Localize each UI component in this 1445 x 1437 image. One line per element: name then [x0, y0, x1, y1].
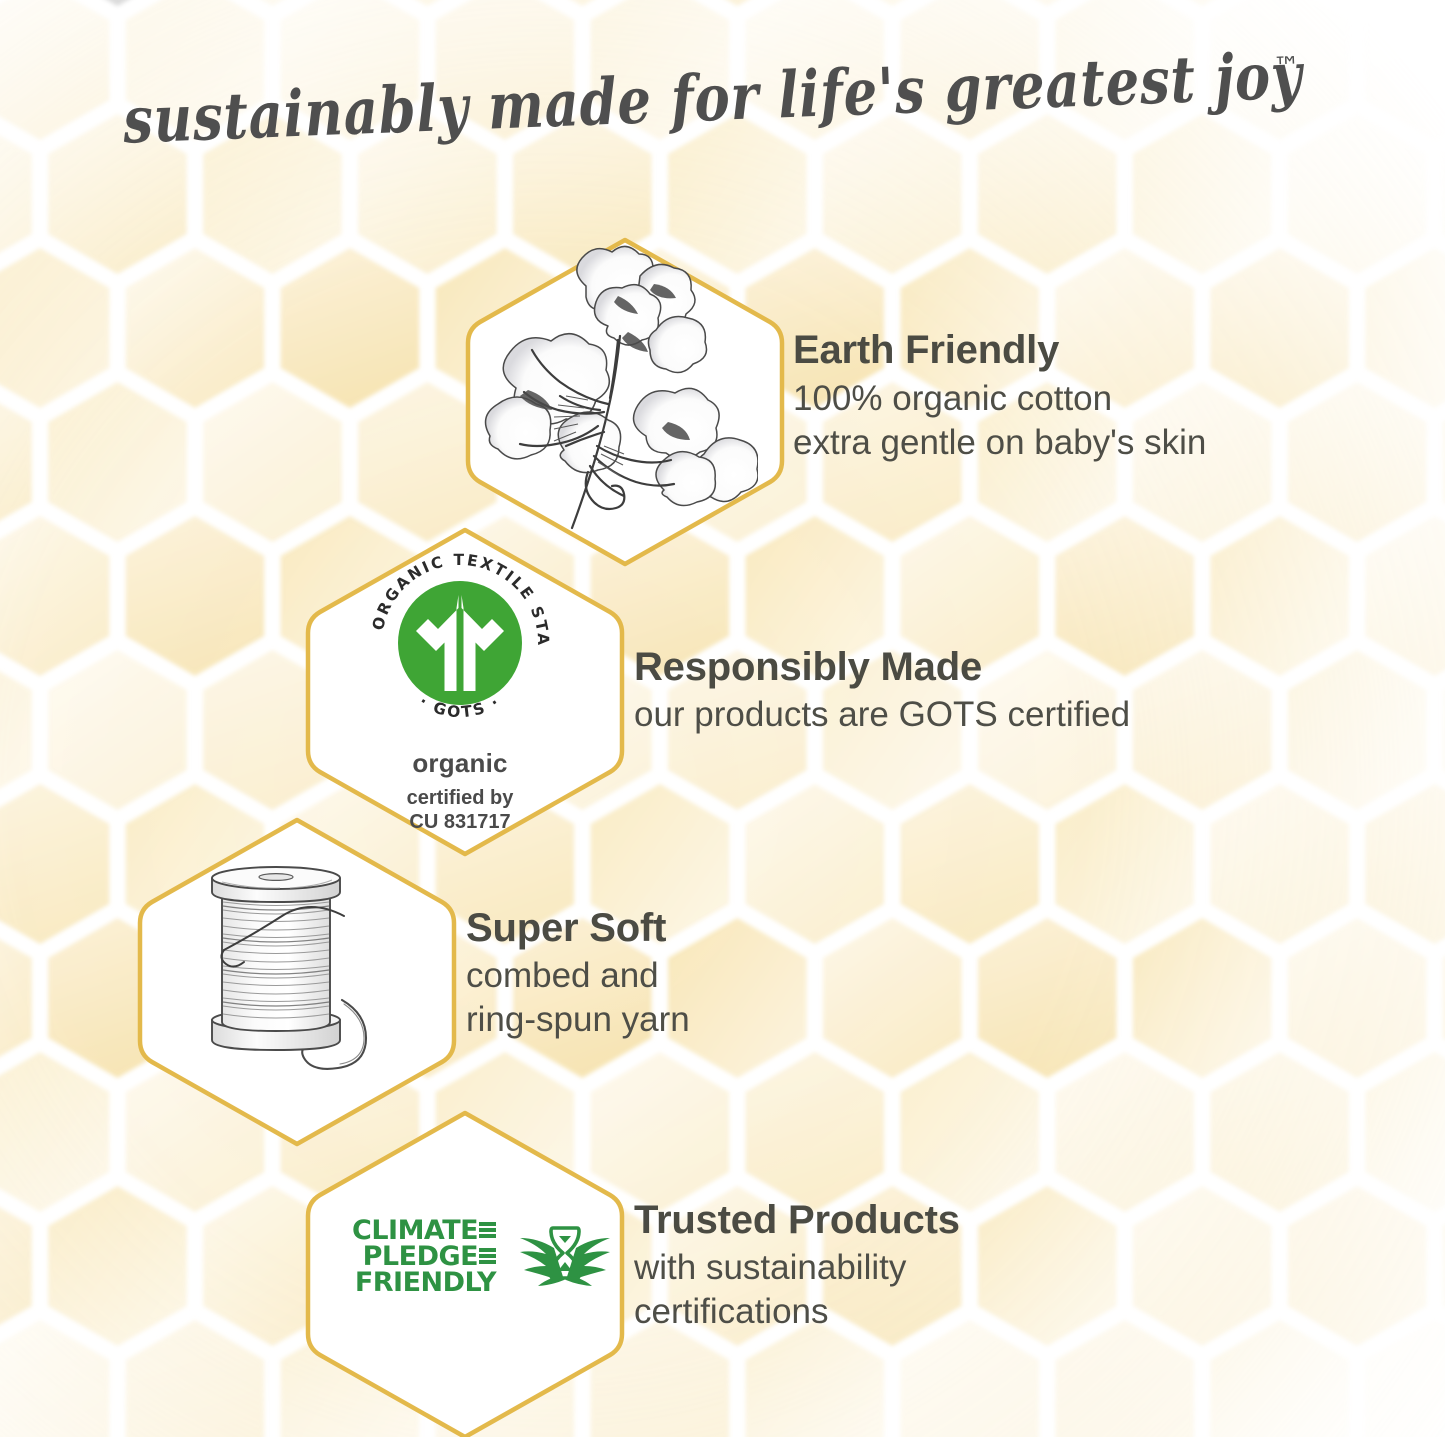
- honeycomb-cell: [1365, 248, 1445, 408]
- honeycomb-cell: [1133, 114, 1272, 274]
- honeycomb-cell: [0, 516, 109, 676]
- feature-title: Trusted Products: [634, 1200, 960, 1240]
- feature-title: Earth Friendly: [793, 330, 1206, 370]
- feature-title: Responsibly Made: [634, 647, 1130, 687]
- honeycomb-cell: [1133, 650, 1272, 810]
- infographic-canvas: sustainably made for life's greatest joy…: [0, 0, 1445, 1437]
- honeycomb-cell: [1133, 918, 1272, 1078]
- feature-line-1: with sustainability: [634, 1246, 960, 1290]
- honeycomb-cell: [1210, 1320, 1349, 1437]
- honeycomb-cell: [1288, 1186, 1427, 1346]
- honeycomb-cell: [1288, 650, 1427, 810]
- honeycomb-cell: [1055, 1320, 1194, 1437]
- honeycomb-cell: [901, 784, 1040, 944]
- honeycomb-cell: [1288, 918, 1427, 1078]
- cpf-bars-icon: [479, 1222, 496, 1240]
- honeycomb-cell: [281, 248, 420, 408]
- honeycomb-cell: [1365, 784, 1445, 944]
- honeycomb-cell: [0, 1052, 109, 1212]
- honeycomb-cell: [48, 650, 187, 810]
- honeycomb-cell: [1288, 114, 1427, 274]
- honeycomb-cell: [0, 382, 32, 542]
- honeycomb-cell: [0, 650, 32, 810]
- honeycomb-cell: [978, 1186, 1117, 1346]
- honeycomb-cell: [1055, 0, 1194, 140]
- honeycomb-cell: [746, 0, 885, 140]
- honeycomb-cell: [901, 1052, 1040, 1212]
- honeycomb-cell: [48, 382, 187, 542]
- honeycomb-cell: [436, 0, 574, 140]
- honeycomb-cell: [126, 0, 265, 140]
- honeycomb-cell: [203, 382, 342, 542]
- cpf-bars-icon: [479, 1248, 496, 1266]
- feature-text-super-soft: Super Soft combed and ring-spun yarn: [466, 908, 690, 1042]
- cpf-wordmark: CLIMATE PLEDGE FRIENDLY: [352, 1218, 496, 1296]
- honeycomb-cell: [0, 248, 109, 408]
- honeycomb-cell: [48, 114, 187, 274]
- honeycomb-cell: [1210, 0, 1349, 140]
- honeycomb-cell: [1210, 1052, 1349, 1212]
- winged-hourglass-icon: [510, 1218, 620, 1296]
- feature-text-responsibly-made: Responsibly Made our products are GOTS c…: [634, 647, 1130, 737]
- honeycomb-cell: [1210, 248, 1349, 408]
- honeycomb-cell: [0, 784, 109, 944]
- honeycomb-cell: [746, 1320, 885, 1437]
- cotton-branch-sketch-icon: [468, 240, 758, 545]
- honeycomb-cell: [0, 0, 109, 140]
- feature-title: Super Soft: [466, 908, 690, 948]
- honeycomb-cell: [0, 1320, 109, 1437]
- honeycomb-cell: [281, 0, 420, 140]
- honeycomb-cell: [0, 114, 32, 274]
- honeycomb-cell: [1365, 1052, 1445, 1212]
- honeycomb-cell: [126, 248, 265, 408]
- feature-line-2: extra gentle on baby's skin: [793, 421, 1206, 465]
- honeycomb-cell: [901, 1320, 1040, 1437]
- cpf-word-friendly: FRIENDLY: [355, 1270, 496, 1296]
- thread-spool-sketch-icon: [178, 852, 408, 1092]
- gots-certified-by: certified by: [336, 786, 584, 810]
- honeycomb-cell: [1365, 516, 1445, 676]
- honeycomb-cell: [126, 516, 265, 676]
- honeycomb-cell: [746, 1052, 885, 1212]
- feature-text-earth-friendly: Earth Friendly 100% organic cotton extra…: [793, 330, 1206, 465]
- honeycomb-cell: [823, 114, 962, 274]
- honeycomb-cell: [901, 0, 1040, 140]
- honeycomb-cell: [823, 918, 962, 1078]
- feature-line-1: our products are GOTS certified: [634, 693, 1130, 737]
- feature-line-1: 100% organic cotton: [793, 377, 1206, 421]
- climate-pledge-friendly-icon: CLIMATE PLEDGE FRIENDLY: [352, 1218, 620, 1296]
- honeycomb-cell: [126, 1320, 265, 1437]
- honeycomb-cell: [978, 114, 1117, 274]
- honeycomb-cell: [1365, 0, 1445, 140]
- honeycomb-cell: [1288, 382, 1427, 542]
- honeycomb-cell: [0, 1186, 32, 1346]
- feature-line-2: ring-spun yarn: [466, 998, 690, 1042]
- honeycomb-cell: [1365, 1320, 1445, 1437]
- feature-line-1: combed and: [466, 954, 690, 998]
- honeycomb-cell: [203, 114, 342, 274]
- honeycomb-cell: [1133, 1186, 1272, 1346]
- gots-organic-label: organic: [336, 748, 584, 779]
- honeycomb-cell: [1210, 516, 1349, 676]
- honeycomb-cell: [1210, 784, 1349, 944]
- honeycomb-cell: [0, 918, 32, 1078]
- honeycomb-cell: [48, 1186, 187, 1346]
- honeycomb-cell: [978, 918, 1117, 1078]
- feature-text-trusted-products: Trusted Products with sustainability cer…: [634, 1200, 960, 1334]
- honeycomb-cell: [1055, 784, 1194, 944]
- gots-certification-icon: GLOBAL ORGANIC TEXTILE STANDARD · GOTS ·…: [336, 548, 584, 835]
- gots-certificate-number: CU 831717: [336, 810, 584, 834]
- honeycomb-cell: [1055, 1052, 1194, 1212]
- honeycomb-cell: [591, 0, 730, 140]
- honeycomb-cell: [746, 784, 885, 944]
- feature-line-2: certifications: [634, 1290, 960, 1334]
